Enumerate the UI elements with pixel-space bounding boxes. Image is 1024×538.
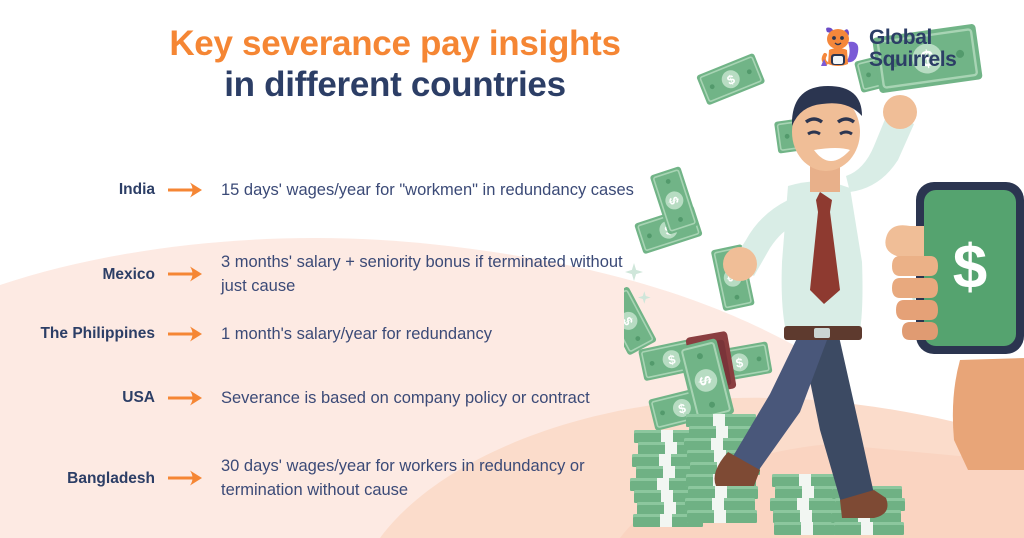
logo-name-line-2: Squirrels (869, 49, 956, 71)
title-line-1: Key severance pay insights (0, 24, 790, 65)
severance-description: Severance is based on company policy or … (219, 386, 640, 410)
country-label: Mexico (0, 265, 157, 284)
arrow-right-icon (157, 181, 219, 199)
list-item: Mexico 3 months' salary + seniority bonu… (0, 250, 640, 299)
phone-dollar-symbol: $ (953, 233, 987, 302)
fist-left (723, 247, 757, 281)
logo-wordmark: Global Squirrels (869, 27, 956, 71)
arrow-right-icon (157, 265, 219, 283)
finger-1 (892, 256, 938, 276)
severance-description: 15 days' wages/year for "workmen" in red… (219, 178, 640, 202)
thumb (885, 225, 924, 258)
country-label: Bangladesh (0, 469, 157, 488)
hand-right (883, 95, 917, 129)
hand-with-phone: $ (885, 182, 1024, 470)
country-label: India (0, 180, 157, 199)
list-item: USA Severance is based on company policy… (0, 386, 640, 410)
severance-description: 3 months' salary + seniority bonus if te… (219, 250, 640, 299)
list-item: The Philippines 1 month's salary/year fo… (0, 322, 640, 346)
list-item: Bangladesh 30 days' wages/year for worke… (0, 454, 640, 503)
list-item: India 15 days' wages/year for "workmen" … (0, 178, 640, 202)
page-title: Key severance pay insights in different … (0, 24, 790, 105)
country-label: USA (0, 388, 157, 407)
severance-description: 1 month's salary/year for redundancy (219, 322, 640, 346)
finger-2 (892, 278, 938, 298)
forearm (953, 358, 1024, 470)
arrow-right-icon (157, 389, 219, 407)
finger-3 (896, 300, 938, 320)
finger-4 (902, 322, 938, 340)
arrow-right-icon (157, 325, 219, 343)
severance-description: 30 days' wages/year for workers in redun… (219, 454, 640, 503)
squirrel-icon (818, 26, 862, 72)
brand-logo[interactable]: Global Squirrels (818, 26, 956, 72)
belt-buckle (814, 328, 830, 338)
country-label: The Philippines (0, 324, 157, 343)
arrow-right-icon (157, 469, 219, 487)
title-line-2: in different countries (0, 65, 790, 106)
logo-name-line-1: Global (869, 27, 956, 49)
infographic-canvas: $ (0, 0, 1024, 538)
